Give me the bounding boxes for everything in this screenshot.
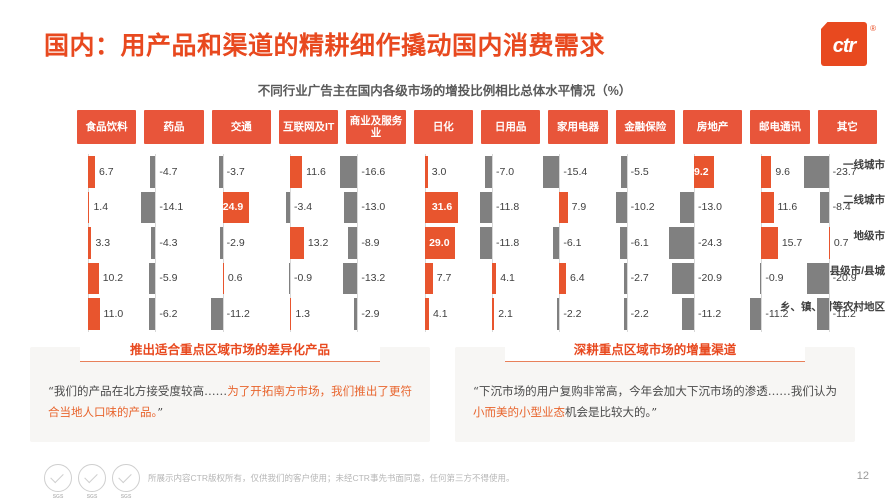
- table-cell: -10.2: [614, 190, 681, 226]
- cell-value: 1.3: [295, 308, 310, 320]
- cell-value: 11.6: [306, 166, 326, 178]
- cell-value: -2.9: [227, 237, 245, 249]
- value-bar: [817, 298, 829, 330]
- cell-value: 3.3: [95, 237, 110, 249]
- table-cell: -5.9: [142, 261, 209, 297]
- value-bar: [211, 298, 223, 330]
- table-cell: 4.1: [479, 261, 546, 297]
- cell-value: -8.4: [833, 201, 851, 213]
- value-bar: [760, 263, 761, 295]
- cell-value: -11.2: [227, 308, 250, 320]
- table-cell: -24.3: [681, 225, 748, 261]
- table-cell: 19.2: [681, 154, 748, 190]
- column-header-1: 食品饮料: [77, 110, 136, 144]
- value-bar: [804, 156, 829, 188]
- table-cell: 2.1: [479, 296, 546, 332]
- table-cell: -2.9: [210, 225, 277, 261]
- copyright-note: 所展示内容CTR版权所有，仅供我们的客户使用；未经CTR事先书面同意，任何第三方…: [148, 472, 514, 484]
- callout-body-suffix: 机会是比较大的。”: [565, 405, 657, 419]
- row-label-column: [0, 110, 75, 332]
- cell-value: 0.6: [228, 272, 243, 284]
- value-bar: [290, 156, 302, 188]
- value-bar: [88, 263, 99, 295]
- cell-value: 6.4: [570, 272, 585, 284]
- cell-value: 24.9: [223, 201, 243, 213]
- table-cell: -13.0: [344, 190, 411, 226]
- cell-value: 11.6: [778, 201, 798, 213]
- value-bar: [88, 298, 100, 330]
- table-cell: 3.0: [412, 154, 479, 190]
- sgs-certification-icon: SGS: [112, 464, 140, 492]
- table-cell: 4.1: [412, 296, 479, 332]
- value-bar: [354, 298, 357, 330]
- cell-value: -4.7: [159, 166, 177, 178]
- table-cell: 10.2: [75, 261, 142, 297]
- value-bar: [480, 192, 492, 224]
- column-header-11: 邮电通讯: [750, 110, 809, 144]
- cell-value: -2.2: [563, 308, 581, 320]
- footer: SGS SGS SGS 所展示内容CTR版权所有，仅供我们的客户使用；未经CTR…: [0, 460, 889, 500]
- cell-value: -11.2: [765, 308, 788, 320]
- cell-value: -13.2: [361, 272, 385, 284]
- cell-value: -6.2: [159, 308, 177, 320]
- table-cell: -4.3: [142, 225, 209, 261]
- value-bar: [223, 263, 224, 295]
- value-bar: [620, 227, 626, 259]
- cell-value: -11.8: [496, 237, 519, 249]
- value-bar: [343, 263, 357, 295]
- table-cell: -13.0: [681, 190, 748, 226]
- table-cell: 1.4: [75, 190, 142, 226]
- cell-value: 2.1: [498, 308, 513, 320]
- table-cell: -8.4: [816, 190, 883, 226]
- cell-value: -24.3: [698, 237, 722, 249]
- sgs-caption: SGS: [79, 494, 105, 500]
- value-bar: [616, 192, 627, 224]
- cell-value: 19.2: [688, 166, 708, 178]
- value-bar: [624, 263, 627, 295]
- table-cell: 11.6: [748, 190, 815, 226]
- value-bar: [624, 298, 626, 330]
- value-bar: [149, 263, 155, 295]
- value-bar: [88, 192, 89, 224]
- cell-value: -11.2: [698, 308, 721, 320]
- cell-value: -15.4: [563, 166, 587, 178]
- value-bar: [553, 227, 559, 259]
- table-cell: -7.0: [479, 154, 546, 190]
- cell-value: -10.2: [631, 201, 655, 213]
- callout-heading: 深耕重点区域市场的增量渠道: [505, 339, 805, 362]
- value-bar: [543, 156, 559, 188]
- cell-value: -3.7: [227, 166, 245, 178]
- callout-body-prefix: “我们的产品在北方接受度较高……: [48, 384, 227, 398]
- value-bar: [220, 227, 223, 259]
- table-cell: 0.7: [816, 225, 883, 261]
- value-bar: [150, 156, 155, 188]
- table-cell: -15.4: [546, 154, 613, 190]
- table-cell: 7.7: [412, 261, 479, 297]
- cell-value: 15.7: [782, 237, 802, 249]
- table-cell: -2.7: [614, 261, 681, 297]
- cell-value: 31.6: [432, 201, 452, 213]
- value-bar: [480, 227, 492, 259]
- value-bar: [557, 298, 559, 330]
- value-bar: [682, 298, 694, 330]
- cell-value: -0.9: [294, 272, 312, 284]
- table-cell: -20.9: [681, 261, 748, 297]
- cell-value: -6.1: [631, 237, 649, 249]
- table-cell: -0.9: [748, 261, 815, 297]
- table-cell: 6.4: [546, 261, 613, 297]
- value-bar: [761, 227, 777, 259]
- callout-product-strategy: 推出适合重点区域市场的差异化产品 “我们的产品在北方接受度较高……为了开拓南方市…: [30, 347, 430, 442]
- value-bar: [425, 298, 429, 330]
- cell-value: 10.2: [103, 272, 123, 284]
- column-header-9: 金融保险: [616, 110, 675, 144]
- cell-value: 29.0: [429, 237, 449, 249]
- cell-value: -3.4: [294, 201, 312, 213]
- value-bar: [344, 192, 358, 224]
- cell-value: 11.0: [104, 308, 124, 320]
- page-number: 12: [857, 470, 869, 482]
- column-header-6: 日化: [414, 110, 473, 144]
- column-header-3: 交通: [212, 110, 271, 144]
- table-cell: -23.7: [816, 154, 883, 190]
- value-bar: [340, 156, 357, 188]
- registered-trademark-icon: ®: [870, 24, 876, 33]
- table-cell: -11.2: [748, 296, 815, 332]
- table-cell: 1.3: [277, 296, 344, 332]
- callout-body-highlight: 小而美的小型业态: [473, 405, 565, 419]
- value-bar: [559, 192, 567, 224]
- column-header-10: 房地产: [683, 110, 742, 144]
- table-cell: -3.7: [210, 154, 277, 190]
- logo-wordmark: ctr: [821, 22, 867, 66]
- table-cell: -11.2: [210, 296, 277, 332]
- column-header-2: 药品: [144, 110, 203, 144]
- table-cell: 3.3: [75, 225, 142, 261]
- value-bar: [559, 263, 566, 295]
- industry-city-tier-table: 食品饮料药品交通互联网及IT商业及服务业日化日用品家用电器金融保险房地产邮电通讯…: [0, 110, 889, 332]
- value-bar: [425, 156, 428, 188]
- cell-value: 3.0: [432, 166, 447, 178]
- cell-value: -20.9: [698, 272, 722, 284]
- table-cell: -0.9: [277, 261, 344, 297]
- value-bar: [219, 156, 223, 188]
- sgs-certification-icon: SGS: [78, 464, 106, 492]
- table-cell: 11.0: [75, 296, 142, 332]
- cell-value: -8.9: [361, 237, 379, 249]
- cell-value: -11.8: [496, 201, 519, 213]
- cell-value: -2.9: [361, 308, 379, 320]
- callout-body: “下沉市场的用户复购非常高，今年会加大下沉市场的渗透……我们认为小而美的小型业态…: [473, 381, 837, 423]
- value-bar: [289, 263, 290, 295]
- table-cell: -2.2: [614, 296, 681, 332]
- value-bar: [669, 227, 695, 259]
- table-cell: 29.0: [412, 225, 479, 261]
- table-cell: -4.7: [142, 154, 209, 190]
- table-cell: -11.8: [479, 225, 546, 261]
- callout-body: “我们的产品在北方接受度较高……为了开拓南方市场，我们推出了更符合当地人口味的产…: [48, 381, 412, 423]
- table-cell: -11.2: [681, 296, 748, 332]
- cell-value: -16.6: [361, 166, 385, 178]
- cell-value: 9.6: [775, 166, 790, 178]
- value-bar: [485, 156, 492, 188]
- table-cell: -14.1: [142, 190, 209, 226]
- sgs-certification-icon: SGS: [44, 464, 72, 492]
- table-cell: 13.2: [277, 225, 344, 261]
- cell-value: 1.4: [93, 201, 108, 213]
- value-bar: [761, 192, 773, 224]
- value-bar: [286, 192, 290, 224]
- value-bar: [88, 156, 95, 188]
- column-header-7: 日用品: [481, 110, 540, 144]
- cell-value: -20.9: [833, 272, 857, 284]
- cell-value: -7.0: [496, 166, 514, 178]
- sgs-caption: SGS: [113, 494, 139, 500]
- table-cell: -16.6: [344, 154, 411, 190]
- table-cell: 31.6: [412, 190, 479, 226]
- table-cell: -20.9: [816, 261, 883, 297]
- value-bar: [621, 156, 627, 188]
- table-cell: -13.2: [344, 261, 411, 297]
- value-bar: [88, 227, 91, 259]
- value-bar: [492, 298, 494, 330]
- callout-body-suffix: ”: [157, 405, 163, 419]
- cell-value: -5.5: [631, 166, 649, 178]
- table-cell: -2.2: [546, 296, 613, 332]
- cell-value: -5.9: [159, 272, 177, 284]
- table-cell: -6.1: [546, 225, 613, 261]
- value-bar: [290, 227, 304, 259]
- table-cell: 6.7: [75, 154, 142, 190]
- table-cell: -5.5: [614, 154, 681, 190]
- table-cell: 11.6: [277, 154, 344, 190]
- callout-heading: 推出适合重点区域市场的差异化产品: [80, 339, 380, 362]
- value-bar: [680, 192, 694, 224]
- cell-value: 4.1: [500, 272, 515, 284]
- table-cell: -11.8: [479, 190, 546, 226]
- value-bar: [672, 263, 694, 295]
- cell-value: -14.1: [159, 201, 183, 213]
- chart-subtitle: 不同行业广告主在国内各级市场的增投比例相比总体水平情况（%）: [0, 80, 889, 99]
- callout-body-prefix: “下沉市场的用户复购非常高，今年会加大下沉市场的渗透……我们认为: [473, 384, 837, 398]
- cell-value: -11.2: [833, 308, 856, 320]
- ctr-logo: ctr ®: [821, 22, 867, 66]
- table-cell: -11.2: [816, 296, 883, 332]
- sgs-caption: SGS: [45, 494, 71, 500]
- cell-value: -2.2: [631, 308, 649, 320]
- cell-value: -6.1: [563, 237, 581, 249]
- value-bar: [829, 227, 830, 259]
- cell-value: -2.7: [631, 272, 649, 284]
- table-cell: -6.2: [142, 296, 209, 332]
- cell-value: -4.3: [159, 237, 177, 249]
- value-bar: [151, 227, 156, 259]
- value-bar: [149, 298, 156, 330]
- cell-value: 13.2: [308, 237, 328, 249]
- column-header-4: 互联网及IT: [279, 110, 338, 144]
- cell-value: 6.7: [99, 166, 114, 178]
- table-cell: -3.4: [277, 190, 344, 226]
- value-bar: [820, 192, 829, 224]
- value-bar: [425, 263, 433, 295]
- table-cell: 15.7: [748, 225, 815, 261]
- cell-value: 4.1: [433, 308, 448, 320]
- table-cell: 7.9: [546, 190, 613, 226]
- value-bar: [290, 298, 291, 330]
- table-cell: 0.6: [210, 261, 277, 297]
- callout-channel-strategy: 深耕重点区域市场的增量渠道 “下沉市场的用户复购非常高，今年会加大下沉市场的渗透…: [455, 347, 855, 442]
- cell-value: -23.7: [833, 166, 857, 178]
- table-cell: -2.9: [344, 296, 411, 332]
- cell-value: 0.7: [834, 237, 849, 249]
- value-bar: [761, 156, 771, 188]
- value-bar: [750, 298, 762, 330]
- cell-value: 7.9: [572, 201, 587, 213]
- value-bar: [141, 192, 156, 224]
- column-header-12: 其它: [818, 110, 877, 144]
- cell-value: -13.0: [698, 201, 722, 213]
- table-cell: 24.9: [210, 190, 277, 226]
- cell-value: -0.9: [765, 272, 783, 284]
- table-cell: -8.9: [344, 225, 411, 261]
- value-bar: [807, 263, 829, 295]
- cell-value: 7.7: [437, 272, 452, 284]
- value-bar: [348, 227, 357, 259]
- column-header-5: 商业及服务业: [346, 110, 405, 144]
- value-bar: [492, 263, 496, 295]
- page-title: 国内：用产品和渠道的精耕细作撬动国内消费需求: [44, 26, 605, 62]
- cell-value: -13.0: [361, 201, 385, 213]
- column-header-8: 家用电器: [548, 110, 607, 144]
